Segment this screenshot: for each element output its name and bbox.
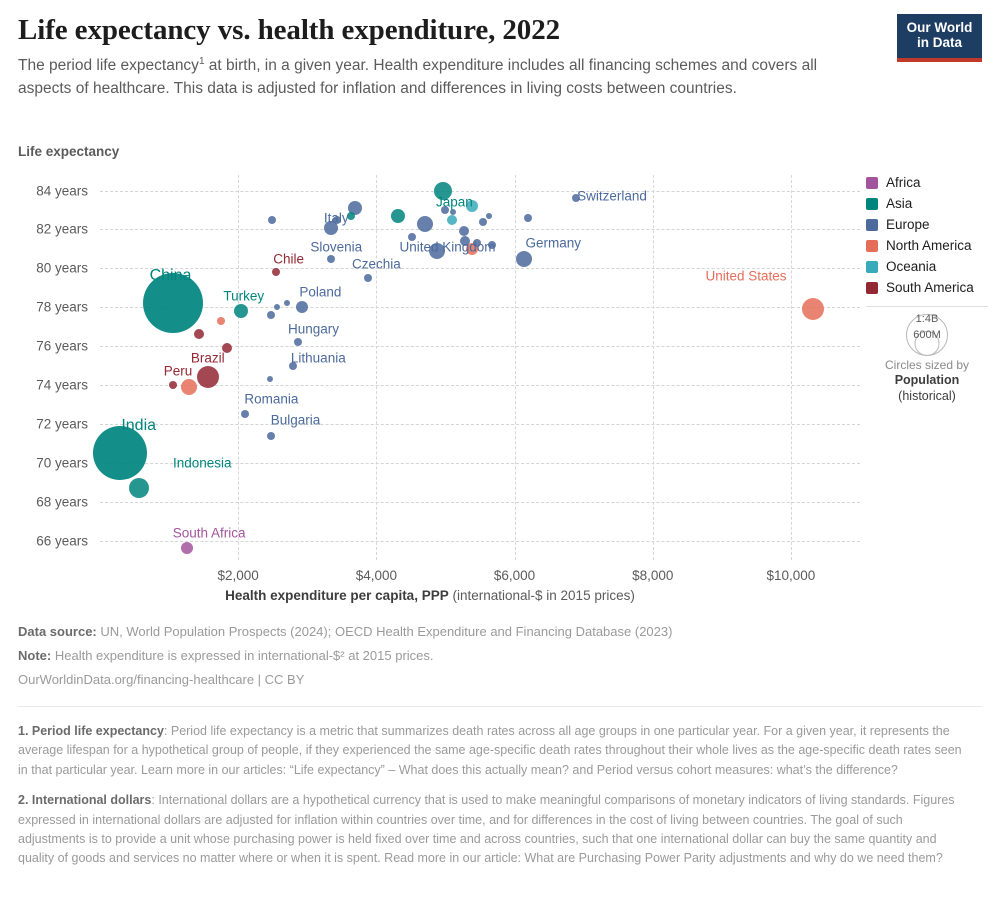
data-point-label: United States <box>705 269 786 284</box>
footnote: 1. Period life expectancy: Period life e… <box>18 722 966 780</box>
data-point[interactable] <box>434 182 452 200</box>
data-point[interactable] <box>802 298 824 320</box>
legend-item[interactable]: Asia <box>866 193 996 214</box>
y-axis-tick-label: 68 years <box>36 494 88 509</box>
data-point[interactable] <box>516 251 532 267</box>
data-point[interactable] <box>93 426 147 480</box>
data-point[interactable] <box>417 216 433 232</box>
data-point[interactable] <box>441 206 449 214</box>
data-point[interactable] <box>217 317 225 325</box>
legend-item[interactable]: Europe <box>866 214 996 235</box>
legend-item[interactable]: Africa <box>866 172 996 193</box>
legend-swatch <box>866 219 878 231</box>
x-axis-tick-label: $8,000 <box>632 568 673 583</box>
data-point-label: Peru <box>164 364 193 379</box>
our-world-in-data-logo[interactable]: Our World in Data <box>897 14 982 62</box>
footnote-body: : International dollars are a hypothetic… <box>18 793 955 865</box>
data-point[interactable] <box>284 300 290 306</box>
footnote: 2. International dollars: International … <box>18 791 966 869</box>
data-point[interactable] <box>473 239 481 247</box>
size-legend-circles: 1:4B 600M <box>866 312 988 356</box>
data-point[interactable] <box>169 381 177 389</box>
x-axis-title-note: (international-$ in 2015 prices) <box>452 588 634 603</box>
data-point[interactable] <box>447 215 457 225</box>
data-point[interactable] <box>234 304 248 318</box>
data-point[interactable] <box>327 255 335 263</box>
legend-swatch <box>866 198 878 210</box>
legend-item-label: Asia <box>886 196 912 211</box>
footnote-title: 1. Period life expectancy <box>18 724 164 738</box>
size-caption-line-2: Population <box>895 373 960 387</box>
gridline-horizontal <box>100 463 860 464</box>
legend-item[interactable]: South America <box>866 277 996 298</box>
data-point[interactable] <box>466 200 478 212</box>
gridline-horizontal <box>100 502 860 503</box>
legend-item-label: South America <box>886 280 974 295</box>
data-point[interactable] <box>459 226 469 236</box>
data-point[interactable] <box>333 216 341 224</box>
data-point[interactable] <box>241 410 249 418</box>
size-label-large: 1:4B <box>866 313 988 325</box>
page-title: Life expectancy vs. health expenditure, … <box>18 14 878 46</box>
gridline-vertical <box>515 175 516 560</box>
size-label-small: 600M <box>866 329 988 341</box>
note-text: Health expenditure is expressed in inter… <box>55 648 434 663</box>
data-point[interactable] <box>129 478 149 498</box>
data-point[interactable] <box>274 304 280 310</box>
gridline-vertical <box>376 175 377 560</box>
data-point[interactable] <box>488 241 496 249</box>
data-point[interactable] <box>347 212 355 220</box>
footnotes-divider <box>18 706 982 707</box>
data-point-label: Turkey <box>223 288 264 303</box>
data-point-label: Romania <box>244 391 298 406</box>
gridline-horizontal <box>100 191 860 192</box>
data-point[interactable] <box>289 362 297 370</box>
data-point[interactable] <box>267 376 273 382</box>
gridline-horizontal <box>100 424 860 425</box>
data-point-label: Hungary <box>288 321 339 336</box>
x-axis-tick-label: $2,000 <box>218 568 259 583</box>
y-axis-tick-label: 72 years <box>36 416 88 431</box>
data-source-line: Data source: UN, World Population Prospe… <box>18 620 878 644</box>
legend-divider <box>866 306 988 307</box>
data-point[interactable] <box>572 194 580 202</box>
x-axis-tick-label: $6,000 <box>494 568 535 583</box>
gridline-horizontal <box>100 229 860 230</box>
data-point-label: Poland <box>299 284 341 299</box>
gridline-vertical <box>653 175 654 560</box>
data-point[interactable] <box>143 273 203 333</box>
gridline-horizontal <box>100 268 860 269</box>
legend-item-label: Europe <box>886 217 930 232</box>
logo-line-2: in Data <box>897 36 982 51</box>
y-axis-tick-label: 70 years <box>36 455 88 470</box>
x-axis-title: Health expenditure per capita, PPP (inte… <box>0 588 860 603</box>
chart-header: Life expectancy vs. health expenditure, … <box>18 14 878 100</box>
data-point-label: Bulgaria <box>271 413 321 428</box>
continent-legend[interactable]: AfricaAsiaEuropeNorth AmericaOceaniaSout… <box>866 172 996 298</box>
gridline-horizontal <box>100 346 860 347</box>
data-point[interactable] <box>479 218 487 226</box>
y-axis-tick-label: 82 years <box>36 222 88 237</box>
gridline-vertical <box>791 175 792 560</box>
size-legend: 1:4B 600M Circles sized by Population (h… <box>866 312 988 404</box>
data-point[interactable] <box>181 542 193 554</box>
data-point[interactable] <box>364 274 372 282</box>
data-point[interactable] <box>296 301 308 313</box>
data-point[interactable] <box>429 243 445 259</box>
data-point-label: United Kingdom <box>399 239 495 254</box>
data-point[interactable] <box>267 311 275 319</box>
y-axis-tick-label: 66 years <box>36 533 88 548</box>
y-axis-title: Life expectancy <box>18 144 119 159</box>
data-source-label: Data source: <box>18 624 97 639</box>
data-point-label: Brazil <box>191 350 225 365</box>
y-axis-tick-label: 76 years <box>36 339 88 354</box>
owid-link[interactable]: OurWorldinData.org/financing-healthcare … <box>18 668 878 692</box>
data-point[interactable] <box>408 233 416 241</box>
legend-swatch <box>866 261 878 273</box>
x-axis-tick-label: $10,000 <box>767 568 816 583</box>
data-point[interactable] <box>450 209 456 215</box>
data-point[interactable] <box>181 379 197 395</box>
footnotes-block: 1. Period life expectancy: Period life e… <box>18 722 966 880</box>
chart-subtitle: The period life expectancy1 at birth, in… <box>18 55 848 99</box>
gridline-vertical <box>238 175 239 560</box>
gridline-horizontal <box>100 307 860 308</box>
data-point[interactable] <box>391 209 405 223</box>
legend-item[interactable]: North America <box>866 235 996 256</box>
data-point[interactable] <box>267 432 275 440</box>
note-line: Note: Health expenditure is expressed in… <box>18 644 878 668</box>
data-point[interactable] <box>268 216 276 224</box>
x-axis-title-main: Health expenditure per capita, PPP <box>225 588 449 603</box>
size-legend-caption: Circles sized by Population (historical) <box>866 358 988 404</box>
size-caption-line-3: (historical) <box>898 389 956 403</box>
data-point[interactable] <box>294 338 302 346</box>
footnote-title: 2. International dollars <box>18 793 151 807</box>
data-point-label: Chile <box>273 251 304 266</box>
logo-line-1: Our World <box>897 21 982 36</box>
note-label: Note: <box>18 648 51 663</box>
data-point[interactable] <box>272 268 280 276</box>
data-point[interactable] <box>197 366 219 388</box>
plot-area[interactable]: ChinaIndiaIndonesiaUnited StatesBrazilJa… <box>100 175 860 560</box>
data-point-label: Lithuania <box>291 350 346 365</box>
owid-chart-page: Life expectancy vs. health expenditure, … <box>0 0 1000 910</box>
gridline-horizontal <box>100 541 860 542</box>
sources-block: Data source: UN, World Population Prospe… <box>18 620 878 692</box>
data-point[interactable] <box>524 214 532 222</box>
data-point-label: Slovenia <box>310 239 362 254</box>
y-axis-tick-label: 80 years <box>36 261 88 276</box>
y-axis-tick-label: 74 years <box>36 378 88 393</box>
data-point[interactable] <box>222 343 232 353</box>
legend-swatch <box>866 240 878 252</box>
data-source-text: UN, World Population Prospects (2024); O… <box>100 624 672 639</box>
scatter-chart: Life expectancy 66 years68 years70 years… <box>0 140 1000 610</box>
x-axis-tick-label: $4,000 <box>356 568 397 583</box>
y-axis-tick-label: 78 years <box>36 300 88 315</box>
legend-item-label: Oceania <box>886 259 936 274</box>
size-caption-line-1: Circles sized by <box>866 358 988 373</box>
data-point[interactable] <box>460 236 470 246</box>
legend-swatch <box>866 282 878 294</box>
data-point-label: South Africa <box>173 525 246 540</box>
legend-swatch <box>866 177 878 189</box>
legend-item-label: North America <box>886 238 972 253</box>
data-point[interactable] <box>194 329 204 339</box>
data-point[interactable] <box>486 213 492 219</box>
legend-item[interactable]: Oceania <box>866 256 996 277</box>
y-axis-tick-label: 84 years <box>36 183 88 198</box>
data-point-label: Germany <box>525 236 581 251</box>
subtitle-text-pre: The period life expectancy <box>18 58 199 75</box>
legend-item-label: Africa <box>886 175 921 190</box>
